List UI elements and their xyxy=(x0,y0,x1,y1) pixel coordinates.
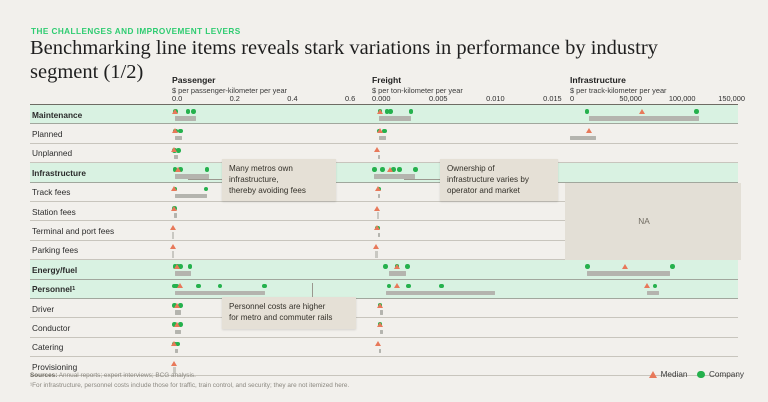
median-marker xyxy=(170,244,176,249)
company-dot xyxy=(653,284,658,289)
callout-leader xyxy=(188,179,224,180)
median-marker xyxy=(373,244,379,249)
range-bar xyxy=(378,155,381,159)
tick-label: 0.0 xyxy=(172,94,182,103)
legend-median-label: Median xyxy=(661,370,688,379)
company-dot xyxy=(409,109,414,114)
cell-passenger xyxy=(172,202,368,221)
row-label: Infrastructure xyxy=(32,163,164,182)
triangle-icon xyxy=(649,371,657,378)
panel-header-infrastructure: Infrastructure$ per track-kilometer per … xyxy=(570,76,667,95)
median-marker xyxy=(172,128,178,133)
median-marker xyxy=(174,303,180,308)
cell-passenger xyxy=(172,105,368,124)
row-label: Personnel1 xyxy=(32,280,164,299)
median-marker xyxy=(394,283,400,288)
callout-ownership-varies: Ownership of infrastructure varies by op… xyxy=(440,159,558,201)
row-label: Track fees xyxy=(32,183,164,202)
company-dot xyxy=(205,167,210,172)
company-dot xyxy=(191,109,196,114)
company-dot xyxy=(204,187,209,192)
range-stub xyxy=(172,251,174,258)
company-dot xyxy=(196,284,201,289)
footer: Sources: Annual reports; expert intervie… xyxy=(30,371,550,390)
tick-label: 0.4 xyxy=(287,94,297,103)
company-dot xyxy=(380,167,385,172)
company-dot xyxy=(694,109,699,114)
row-label: Planned xyxy=(32,124,164,143)
median-marker xyxy=(171,206,177,211)
cell-freight xyxy=(372,260,566,279)
benchmark-row: Conductor xyxy=(30,318,738,337)
median-marker xyxy=(387,167,393,172)
cell-infrastructure xyxy=(570,144,738,163)
callout-personnel-costs-higher: Personnel costs are higher for metro and… xyxy=(222,297,356,329)
row-label: Maintenance xyxy=(32,105,164,124)
legend-item-median: Median xyxy=(649,370,688,379)
median-marker xyxy=(375,186,381,191)
range-stub xyxy=(375,251,377,258)
benchmark-row: Unplanned xyxy=(30,144,738,163)
range-bar xyxy=(389,271,406,275)
row-label: Unplanned xyxy=(32,144,164,163)
company-dot xyxy=(262,284,267,289)
cell-passenger xyxy=(172,124,368,143)
range-bar xyxy=(175,330,181,334)
range-bar xyxy=(589,116,700,120)
chart-legend: Median Company xyxy=(649,370,744,379)
range-bar xyxy=(647,291,659,295)
cell-freight xyxy=(372,202,566,221)
company-dot xyxy=(372,167,377,172)
row-label: Terminal and port fees xyxy=(32,221,164,240)
median-marker xyxy=(639,109,645,114)
sources-line: Sources: Annual reports; expert intervie… xyxy=(30,371,550,381)
panel-title-passenger: Passenger xyxy=(172,76,287,86)
benchmark-row: Driver xyxy=(30,299,738,318)
cell-infrastructure xyxy=(570,124,738,143)
range-stub xyxy=(172,232,174,239)
cell-freight xyxy=(372,280,566,299)
median-marker xyxy=(644,283,650,288)
benchmark-row: Planned xyxy=(30,124,738,143)
company-dot xyxy=(383,264,388,269)
median-marker xyxy=(171,361,177,366)
range-bar xyxy=(175,349,178,353)
company-dot xyxy=(406,284,411,289)
row-label: Driver xyxy=(32,299,164,318)
legend-company-label: Company xyxy=(709,370,744,379)
median-marker xyxy=(377,128,383,133)
range-bar xyxy=(570,136,596,140)
benchmark-row: Energy/fuel xyxy=(30,260,738,279)
circle-icon xyxy=(697,371,705,379)
tick-label: 0.010 xyxy=(486,94,505,103)
cell-infrastructure xyxy=(570,299,738,318)
median-marker xyxy=(374,225,380,230)
company-dot xyxy=(439,284,444,289)
cell-passenger xyxy=(172,280,368,299)
median-marker xyxy=(177,283,183,288)
company-dot xyxy=(382,129,387,134)
panel-title-freight: Freight xyxy=(372,76,463,86)
median-marker xyxy=(171,147,177,152)
range-bar xyxy=(380,310,383,314)
callout-leader xyxy=(404,179,442,180)
company-dot xyxy=(186,109,191,114)
median-marker xyxy=(394,264,400,269)
legend-item-company: Company xyxy=(697,370,744,379)
cell-passenger xyxy=(172,221,368,240)
cell-infrastructure xyxy=(570,318,738,337)
callout-metros-own-infrastructure: Many metros own infrastructure, thereby … xyxy=(222,159,336,201)
median-marker xyxy=(174,264,180,269)
benchmark-row: Personnel1 xyxy=(30,280,738,299)
range-bar xyxy=(587,271,670,275)
median-marker xyxy=(174,322,180,327)
cell-freight xyxy=(372,241,566,260)
row-label: Energy/fuel xyxy=(32,260,164,279)
sources-text: Annual reports; expert interviews; BCG a… xyxy=(57,372,196,379)
range-bar xyxy=(174,213,177,217)
cell-passenger xyxy=(172,260,368,279)
median-marker xyxy=(171,341,177,346)
tick-label: 0.005 xyxy=(429,94,448,103)
median-marker xyxy=(377,322,383,327)
row-label: Conductor xyxy=(32,318,164,337)
footnote-line: ¹For infrastructure, personnel costs inc… xyxy=(30,381,550,391)
row-label: Station fees xyxy=(32,202,164,221)
range-bar xyxy=(174,155,178,159)
median-marker xyxy=(377,303,383,308)
median-marker xyxy=(172,109,178,114)
cell-freight xyxy=(372,318,566,337)
tick-label: 0.6 xyxy=(345,94,355,103)
cell-freight xyxy=(372,299,566,318)
median-marker xyxy=(171,186,177,191)
cell-freight xyxy=(372,124,566,143)
company-dot xyxy=(218,284,223,289)
median-marker xyxy=(170,225,176,230)
panel-header-freight: Freight$ per ton-kilometer per year xyxy=(372,76,463,95)
median-marker xyxy=(375,341,381,346)
company-dot xyxy=(670,264,675,269)
tick-label: 0.000 xyxy=(372,94,391,103)
tick-label: 100,000 xyxy=(669,94,696,103)
median-marker xyxy=(586,128,592,133)
company-dot xyxy=(387,284,392,289)
median-marker xyxy=(622,264,628,269)
cell-passenger xyxy=(172,241,368,260)
panel-header-passenger: Passenger$ per passenger-kilometer per y… xyxy=(172,76,287,95)
company-dot xyxy=(413,167,418,172)
company-dot xyxy=(405,264,410,269)
company-dot xyxy=(397,167,402,172)
company-dot xyxy=(585,109,590,114)
row-label: Catering xyxy=(32,338,164,357)
company-dot xyxy=(388,109,393,114)
tick-label: 0 xyxy=(570,94,574,103)
na-label: NA xyxy=(638,216,650,226)
eyebrow-kicker: THE CHALLENGES AND IMPROVEMENT LEVERS xyxy=(31,27,241,36)
range-bar xyxy=(380,330,383,334)
range-bar xyxy=(175,136,182,140)
sources-label: Sources: xyxy=(30,372,57,379)
company-dot xyxy=(178,129,183,134)
cell-infrastructure xyxy=(570,163,738,182)
cell-freight xyxy=(372,221,566,240)
cell-infrastructure xyxy=(570,280,738,299)
range-bar xyxy=(175,194,207,198)
benchmark-row: Catering xyxy=(30,338,738,357)
median-marker xyxy=(374,147,380,152)
cell-freight xyxy=(372,105,566,124)
row-label: Parking fees xyxy=(32,241,164,260)
range-bar xyxy=(378,233,381,237)
range-stub xyxy=(377,212,379,219)
company-dot xyxy=(585,264,590,269)
cell-infrastructure xyxy=(570,260,738,279)
tick-label: 0.015 xyxy=(543,94,562,103)
range-bar xyxy=(379,136,386,140)
range-bar xyxy=(175,310,181,314)
cell-infrastructure xyxy=(570,338,738,357)
range-bar xyxy=(175,291,264,295)
tick-label: 50,000 xyxy=(619,94,642,103)
range-bar xyxy=(175,271,191,275)
range-bar xyxy=(378,194,381,198)
range-bar xyxy=(386,291,496,295)
cell-freight xyxy=(372,338,566,357)
range-bar xyxy=(175,116,195,120)
cell-infrastructure xyxy=(570,105,738,124)
benchmark-row: Infrastructure xyxy=(30,163,738,182)
median-marker xyxy=(374,206,380,211)
range-bar xyxy=(379,116,411,120)
tick-label: 0.2 xyxy=(230,94,240,103)
median-marker xyxy=(175,167,181,172)
company-dot xyxy=(188,264,193,269)
cell-passenger xyxy=(172,338,368,357)
benchmark-row: Maintenance xyxy=(30,105,738,124)
na-band xyxy=(565,183,741,261)
panel-title-infrastructure: Infrastructure xyxy=(570,76,667,86)
slide-root: THE CHALLENGES AND IMPROVEMENT LEVERS Be… xyxy=(0,0,768,402)
range-bar xyxy=(379,349,382,353)
median-marker xyxy=(377,109,383,114)
tick-label: 150,000 xyxy=(718,94,745,103)
